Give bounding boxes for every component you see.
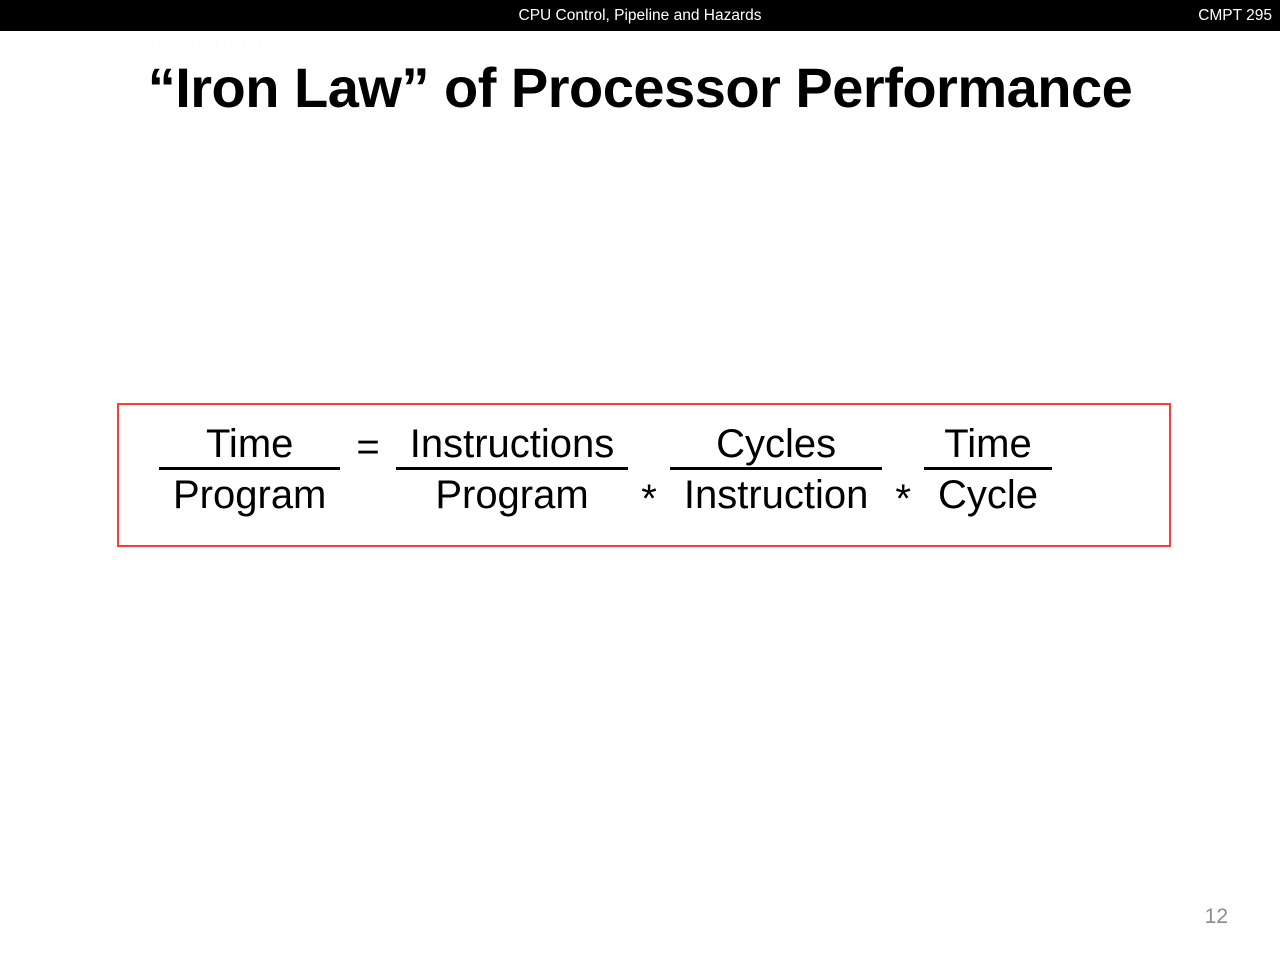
fraction-cycles-per-instruction: Cycles Instruction: [670, 424, 883, 515]
formula-expression: Time Program = Instructions Program * Cy…: [159, 424, 1052, 519]
fraction-denominator: Cycle: [924, 470, 1052, 515]
fraction-denominator: Program: [159, 470, 340, 515]
fraction-time-per-cycle: Time Cycle: [924, 424, 1052, 515]
fraction-denominator: Program: [421, 470, 602, 515]
fraction-denominator: Instruction: [670, 470, 883, 515]
fraction-time-per-program: Time Program: [159, 424, 340, 515]
university-watermark: UNIVERSITY of WASHINGTON: [28, 33, 294, 53]
header-title: CPU Control, Pipeline and Hazards: [0, 0, 1280, 31]
slide: CPU Control, Pipeline and Hazards CMPT 2…: [0, 0, 1280, 960]
formula-box: Time Program = Instructions Program * Cy…: [117, 403, 1171, 547]
page-number: 12: [1205, 905, 1228, 929]
fraction-instructions-per-program: Instructions Program: [396, 424, 629, 515]
fraction-numerator: Instructions: [396, 424, 629, 467]
fraction-numerator: Time: [192, 424, 307, 467]
header-course-label: CMPT 295: [1198, 0, 1272, 31]
operator-multiply-second: *: [882, 424, 924, 519]
header-bar: CPU Control, Pipeline and Hazards CMPT 2…: [0, 0, 1280, 31]
page-title: “Iron Law” of Processor Performance: [0, 55, 1280, 120]
fraction-numerator: Time: [930, 424, 1045, 467]
fraction-numerator: Cycles: [702, 424, 850, 467]
operator-equals: =: [340, 424, 395, 467]
operator-multiply-first: *: [628, 424, 670, 519]
